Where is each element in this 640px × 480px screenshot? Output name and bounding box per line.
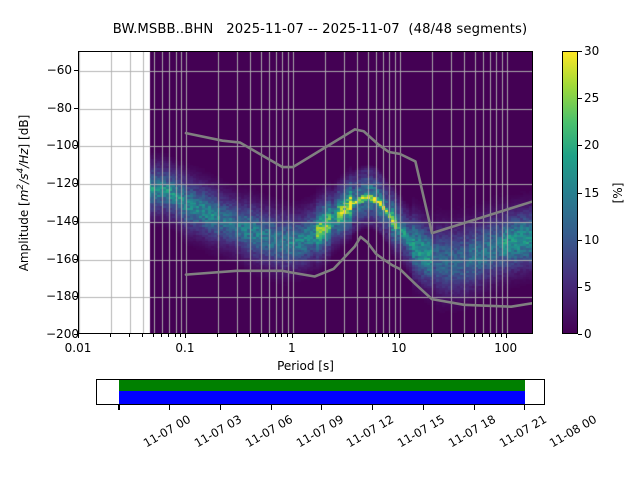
timeline-bar-psd-coverage [119,391,525,404]
x-tick [161,334,162,337]
colorbar [562,51,578,334]
timeline-tick [474,405,475,410]
y-tick-label: −80 [46,101,72,115]
y-tick-label: −180 [46,289,72,303]
colorbar-tick-label: 5 [584,280,592,294]
x-tick-label: 1 [288,341,296,355]
x-tick [399,334,400,338]
colorbar-tick [578,334,582,335]
x-tick [275,334,276,337]
timeline-tick-label: 11-07 06 [232,412,294,456]
x-tick [287,334,288,337]
colorbar-tick [578,51,582,52]
timeline-tick [321,405,322,410]
noise-model-curves [79,52,532,333]
x-tick [463,334,464,337]
x-tick [431,334,432,337]
figure-title: BW.MSBB..BHN 2025-11-07 -- 2025-11-07 (4… [0,22,640,37]
x-tick [506,334,507,338]
colorbar-tick-label: 20 [584,138,599,152]
x-tick-label: 10 [391,341,406,355]
x-tick [236,334,237,337]
y-tick-label: −60 [46,63,72,77]
x-tick [495,334,496,337]
x-tick [153,334,154,337]
colorbar-tick [578,145,582,146]
x-tick [388,334,389,337]
colorbar-tick-label: 0 [584,327,592,341]
colorbar-tick [578,193,582,194]
noise-model-nhnm [186,129,532,233]
colorbar-tick-label: 15 [584,186,599,200]
timeline-tick [423,405,424,410]
y-tick-label: −120 [46,176,72,190]
x-tick-label: 0.1 [175,341,194,355]
x-tick [343,334,344,337]
colorbar-tick [578,240,582,241]
x-tick [367,334,368,337]
timeline-tick [118,405,119,410]
x-tick-label: 0.01 [65,341,92,355]
timeline-tick [169,405,170,410]
ppsd-figure: BW.MSBB..BHN 2025-11-07 -- 2025-11-07 (4… [0,0,640,480]
x-tick [268,334,269,337]
colorbar-tick-label: 10 [584,233,599,247]
noise-model-nlnm [186,237,532,307]
y-tick [74,70,78,71]
x-axis-title: Period [s] [78,359,533,373]
x-tick [249,334,250,337]
x-tick [375,334,376,337]
x-tick [501,334,502,337]
x-tick [217,334,218,337]
ppsd-plot-area [79,52,532,333]
timeline-tick-label: 11-07 18 [435,412,497,456]
timeline-bar-data-coverage [119,380,525,391]
y-axis-title: Amplitude [m2/s4/Hz] [dB] [16,114,31,271]
ppsd-axes [78,51,533,334]
x-tick [129,334,130,337]
colorbar-tick [578,98,582,99]
x-tick [185,334,186,338]
x-tick [382,334,383,337]
timeline-tick [220,405,221,410]
colorbar-tick [578,287,582,288]
x-tick [281,334,282,337]
x-tick [482,334,483,337]
timeline-tick [524,405,525,410]
x-tick [142,334,143,337]
colorbar-tick-label: 25 [584,91,599,105]
timeline-tick [271,405,272,410]
y-tick-label: −140 [46,214,72,228]
x-tick [110,334,111,337]
x-tick [260,334,261,337]
y-tick-label: −200 [46,327,72,341]
y-tick-label: −160 [46,252,72,266]
x-tick [356,334,357,337]
x-tick [175,334,176,337]
x-tick [450,334,451,337]
y-tick-label: −100 [46,138,72,152]
timeline-tick [372,405,373,410]
x-tick [168,334,169,337]
x-tick-label: 100 [494,341,517,355]
timeline-axes [96,379,545,405]
x-tick [180,334,181,337]
x-tick [324,334,325,337]
x-tick [489,334,490,337]
x-tick [394,334,395,337]
colorbar-title: [%] [611,182,625,203]
y-tick [74,108,78,109]
colorbar-tick-label: 30 [584,44,599,58]
x-tick [474,334,475,337]
x-tick [292,334,293,338]
